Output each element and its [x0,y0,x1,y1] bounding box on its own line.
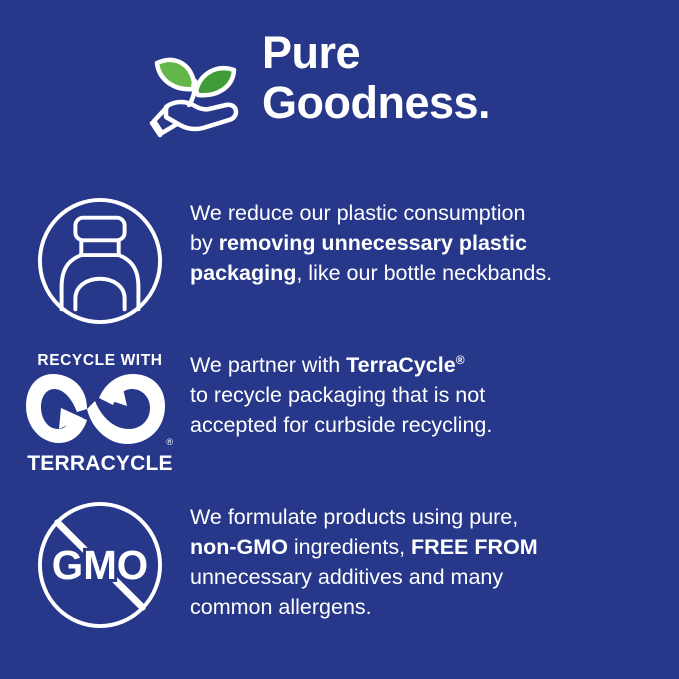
registered-trademark-icon: ® [166,438,173,447]
feature-non-gmo: GMO We formulate products using pure,non… [0,500,679,630]
recycle-infinity-icon: ® [25,372,175,451]
text-line: accepted for curbside recycling. [190,410,492,440]
pure-goodness-infographic: Pure Goodness. We reduce our plastic con… [0,0,679,679]
no-gmo-icon: GMO [0,500,190,630]
text-line: unnecessary additives and many [190,562,538,592]
text-line: We formulate products using pure, [190,502,538,532]
text-line: We partner with TerraCycle® [190,350,492,380]
feature-non-gmo-text: We formulate products using pure,non-GMO… [190,500,538,622]
text-line: packaging, like our bottle neckbands. [190,258,552,288]
feature-terracycle: RECYCLE WITH ® TERRACYCLE [0,348,679,475]
bottle-neckband-icon [0,196,190,326]
text-line: We reduce our plastic consumption [190,198,552,228]
page-title: Pure Goodness. [262,26,490,128]
terracycle-logo-bottom-text: TERRACYCLE [25,452,175,475]
text-line: to recycle packaging that is not [190,380,492,410]
text-line: by removing unnecessary plastic [190,228,552,258]
feature-terracycle-text: We partner with TerraCycle® to recycle p… [190,348,492,440]
terracycle-logo-top-text: RECYCLE WITH [25,352,175,369]
title-line-2: Goodness. [262,78,490,128]
header: Pure Goodness. [0,26,679,156]
gmo-label: GMO [52,542,148,588]
feature-plastic-reduction-text: We reduce our plastic consumptionby remo… [190,196,552,288]
feature-plastic-reduction: We reduce our plastic consumptionby remo… [0,196,679,326]
title-line-1: Pure [262,28,490,78]
text-line: non-GMO ingredients, FREE FROM [190,532,538,562]
hand-holding-sprout-icon [146,37,248,142]
terracycle-logo-icon: RECYCLE WITH ® TERRACYCLE [0,348,190,475]
text-line: common allergens. [190,592,538,622]
